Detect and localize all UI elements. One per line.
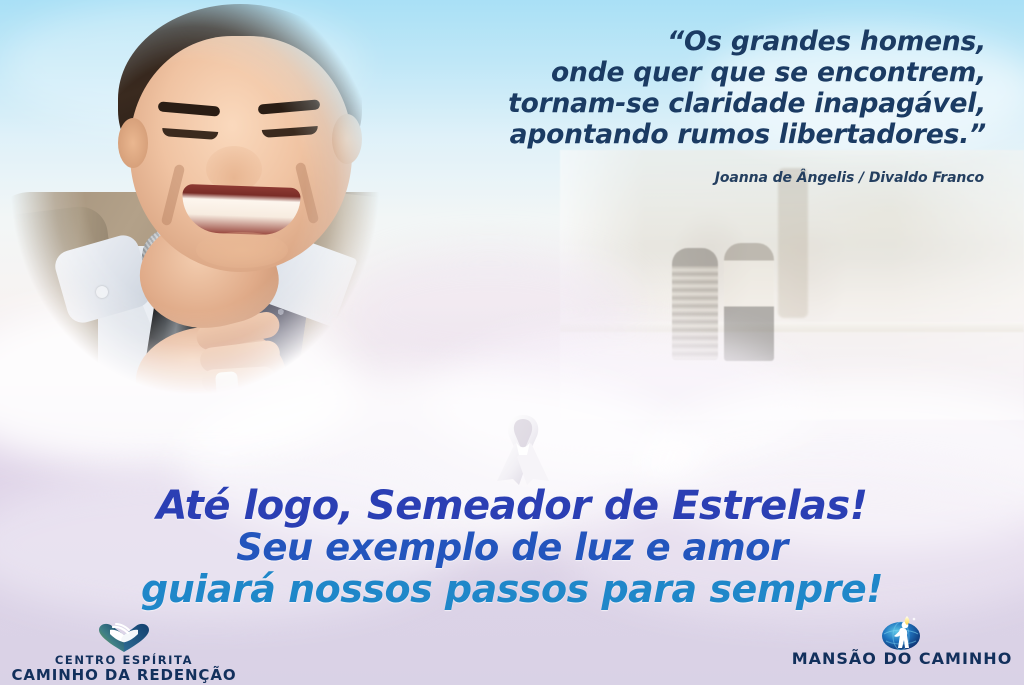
finger-ring (215, 371, 239, 398)
headline-line-1: Até logo, Semeador de Estrelas! (0, 484, 1024, 528)
scene-figure-striped-shirt (672, 248, 718, 360)
ear-right (332, 114, 362, 164)
logo-mansao-do-caminho[interactable]: MANSÃO DO CAMINHO (786, 616, 1018, 668)
quote-line-4: apontando rumos libertadores.” (426, 119, 986, 150)
quote-attribution: Joanna de Ângelis / Divaldo Franco (424, 170, 984, 186)
headline-line-2: Seu exemplo de luz e amor (0, 528, 1024, 568)
quote-line-1: “Os grandes homens, (426, 26, 986, 57)
scene-tree (778, 168, 808, 318)
chin (196, 232, 288, 268)
finger (201, 366, 276, 394)
white-awareness-ribbon-icon (489, 409, 557, 487)
quote-line-3: tornam-se claridade inapagável, (426, 88, 986, 119)
portrait-photo (0, 0, 420, 426)
quote-line-2: onde quer que se encontrem, (426, 57, 986, 88)
scene-railing (560, 322, 1024, 332)
headline-line-3: guiará nossos passos para sempre! (0, 568, 1024, 610)
portrait-fade-mask (0, 0, 420, 426)
headline-block: Até logo, Semeador de Estrelas! Seu exem… (0, 484, 1024, 610)
poster-canvas: “Os grandes homens, onde quer que se enc… (0, 0, 1024, 685)
globe-figure-flame-icon (786, 616, 1018, 650)
logo-centro-espirita[interactable]: CENTRO ESPÍRITA CAMINHO DA REDENÇÃO (8, 620, 240, 684)
ear-left (118, 118, 148, 168)
quote-block: “Os grandes homens, onde quer que se enc… (426, 26, 986, 150)
scene-figure-white-shirt (724, 243, 774, 361)
cuff-button (96, 286, 108, 298)
hands-heart-icon (8, 620, 240, 654)
logo-right-line-1: MANSÃO DO CAMINHO (786, 650, 1018, 668)
logo-left-line-2: CAMINHO DA REDENÇÃO (8, 667, 240, 684)
